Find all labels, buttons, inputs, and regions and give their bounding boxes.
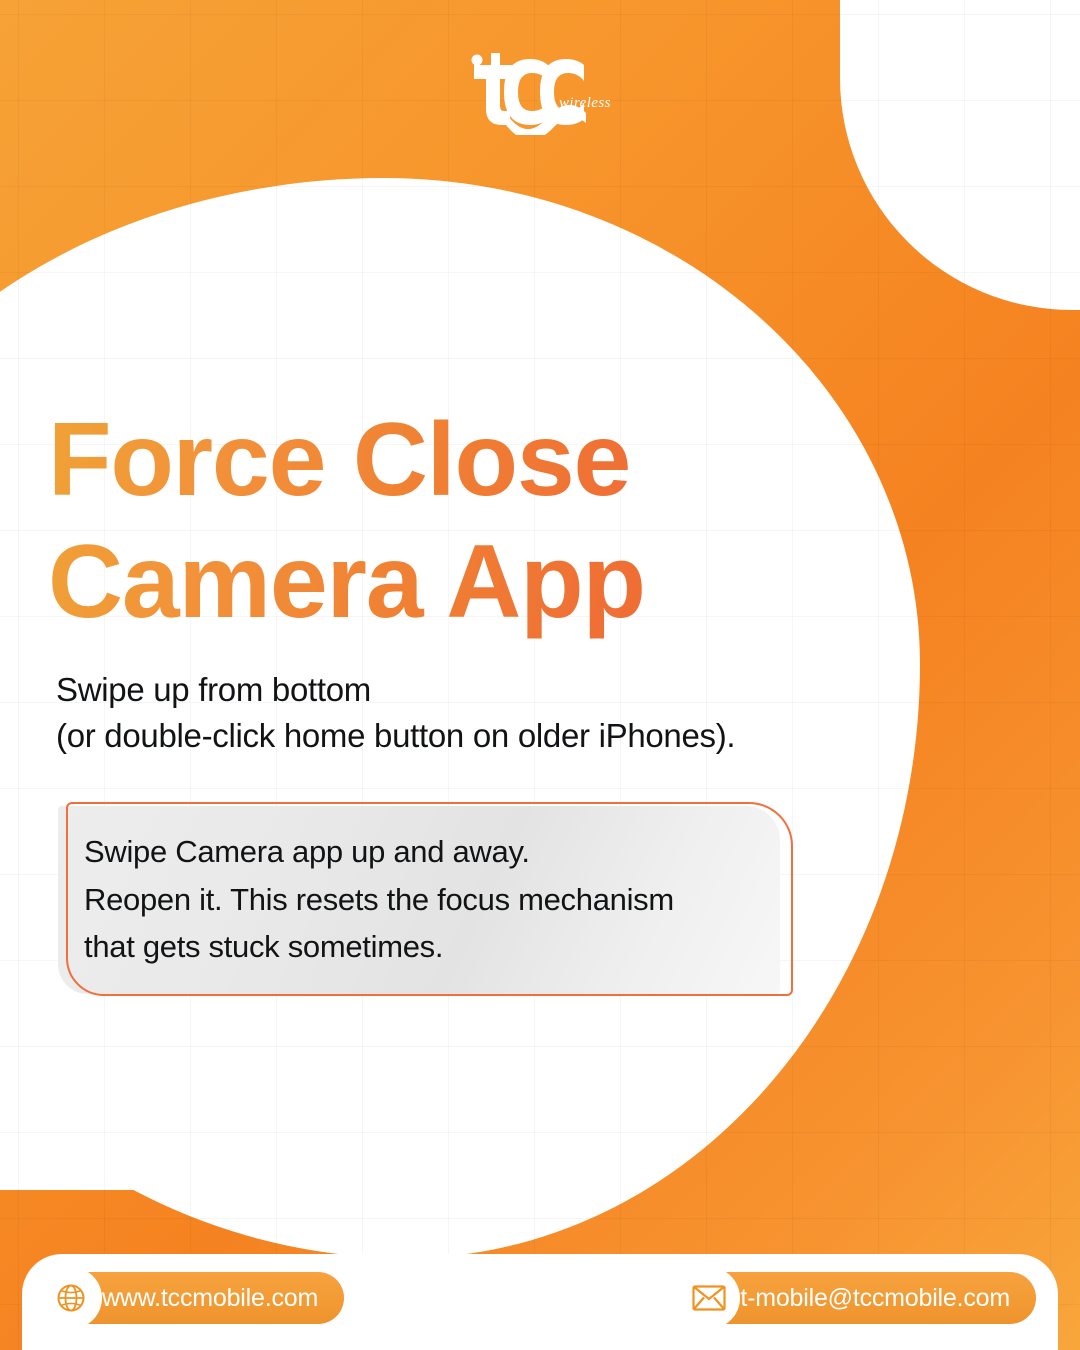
globe-icon xyxy=(40,1267,102,1329)
email-pill[interactable]: t-mobile@tccmobile.com xyxy=(682,1272,1036,1324)
top-right-white-notch xyxy=(840,0,1080,310)
website-label: www.tccmobile.com xyxy=(102,1284,318,1313)
website-pill[interactable]: www.tccmobile.com xyxy=(44,1272,344,1324)
callout-text: Swipe Camera app up and away. Reopen it.… xyxy=(58,802,793,995)
poster-canvas: wireless Force Close Camera App Swipe up… xyxy=(0,0,1080,1350)
svg-text:wireless: wireless xyxy=(559,95,611,111)
page-title: Force Close Camera App xyxy=(48,400,848,643)
footer-bar: www.tccmobile.com t-mobile@tccmobile.com xyxy=(22,1254,1058,1350)
email-label: t-mobile@tccmobile.com xyxy=(740,1284,1010,1313)
tcc-wireless-logo-icon: wireless xyxy=(460,51,620,135)
brand-logo: wireless xyxy=(0,48,1080,138)
tip-callout-box: Swipe Camera app up and away. Reopen it.… xyxy=(58,802,793,998)
main-content: Force Close Camera App Swipe up from bot… xyxy=(48,400,848,998)
subtitle-text: Swipe up from bottom (or double-click ho… xyxy=(56,667,848,758)
envelope-icon xyxy=(678,1267,740,1329)
